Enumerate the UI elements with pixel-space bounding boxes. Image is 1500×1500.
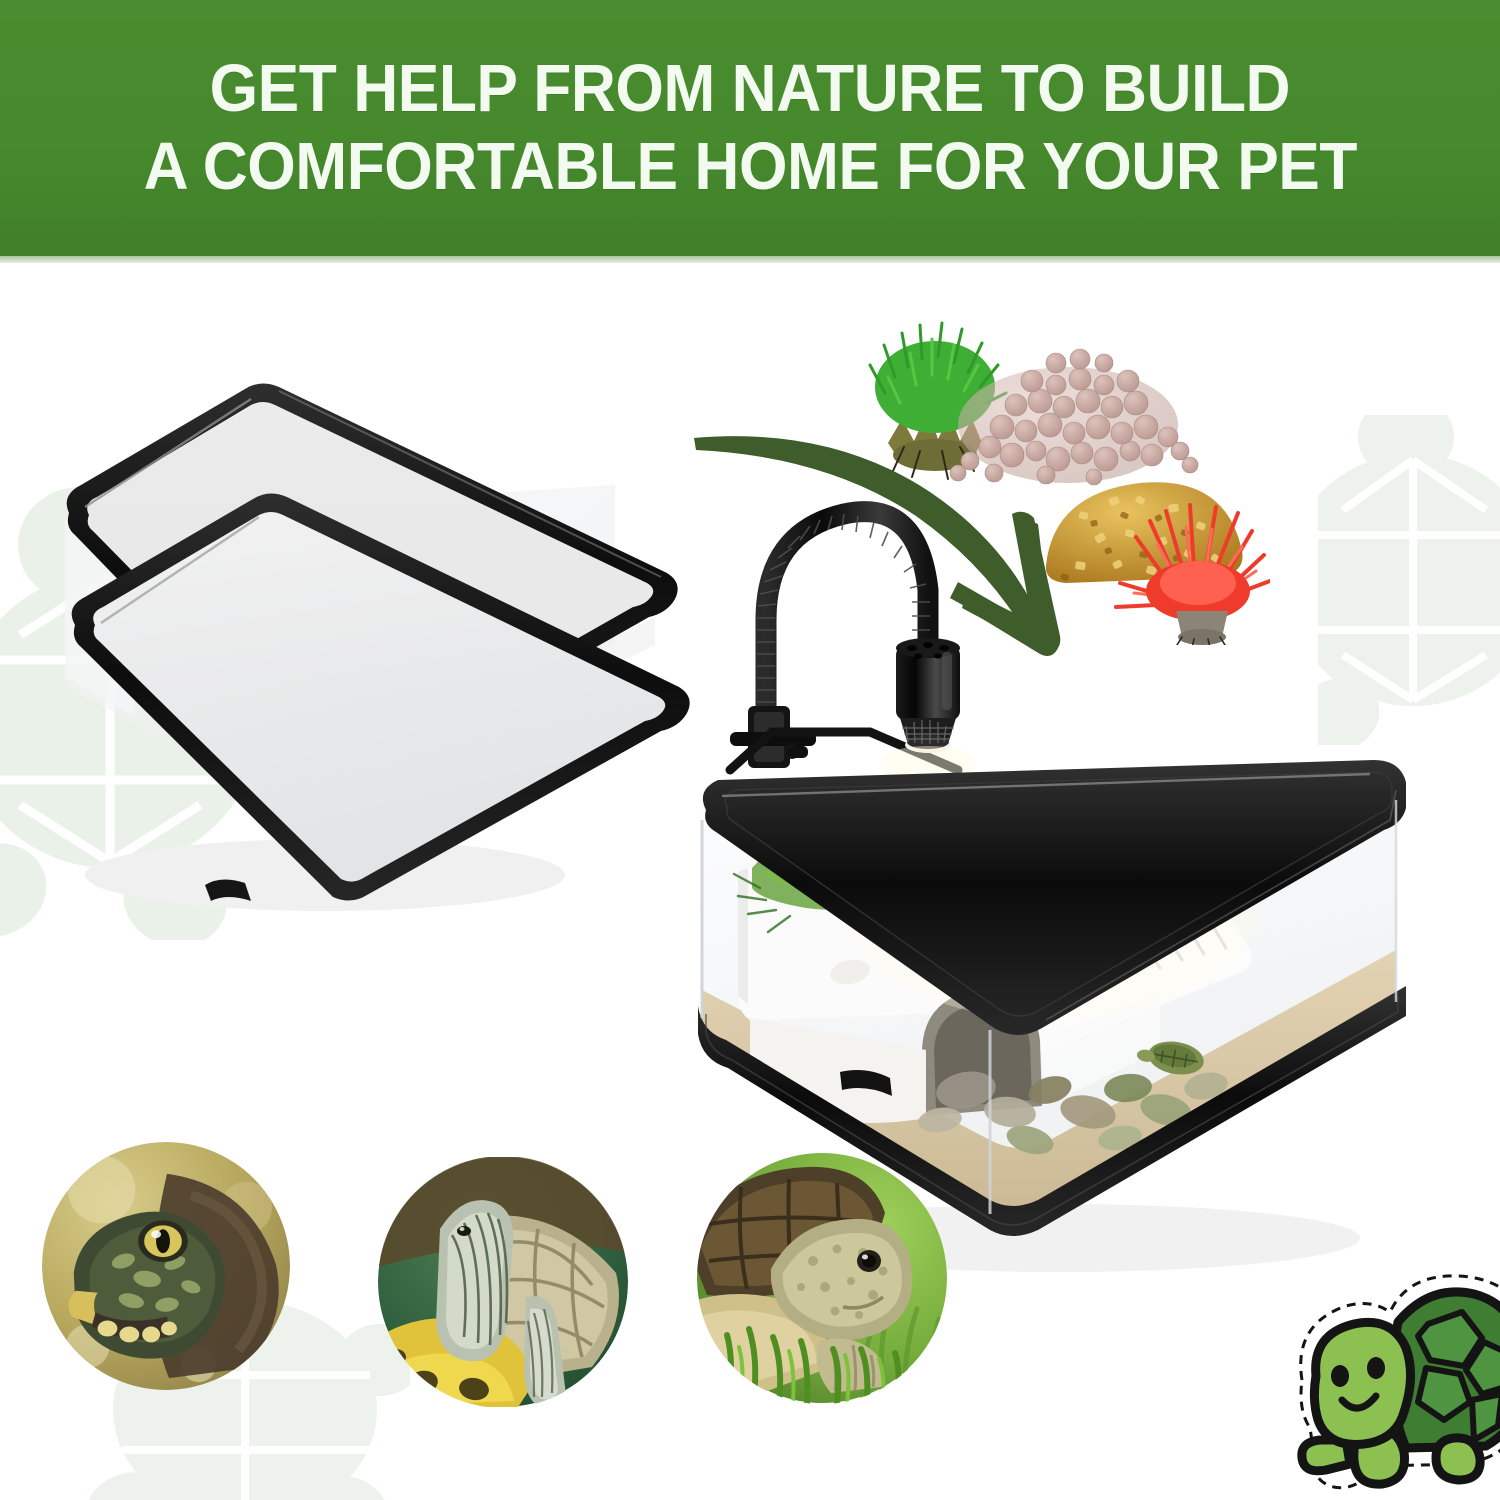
slider-head-neck <box>436 1200 513 1361</box>
turtle-photo-red-eared-slider <box>378 1156 628 1408</box>
header-banner: GET HELP FROM NATURE TO BUILD A COMFORTA… <box>0 0 1500 256</box>
banner-underglow-strip <box>0 256 1500 263</box>
product-banner-page: GET HELP FROM NATURE TO BUILD A COMFORTA… <box>0 0 1500 1500</box>
banner-headline-line-2: A COMFORTABLE HOME FOR YOUR PET <box>143 133 1356 201</box>
sticker-eye-left <box>1331 1365 1349 1387</box>
cartoon-turtle-sticker <box>1258 1268 1500 1500</box>
sticker-head <box>1314 1322 1410 1444</box>
sticker-eye-right <box>1367 1357 1385 1379</box>
left-tank-open-assembly <box>55 345 715 915</box>
turtle-photo-sulcata-tortoise <box>697 1152 947 1404</box>
turtle-photo-painted-turtle <box>42 1142 290 1390</box>
banner-headline-line-1: GET HELP FROM NATURE TO BUILD <box>210 55 1290 123</box>
